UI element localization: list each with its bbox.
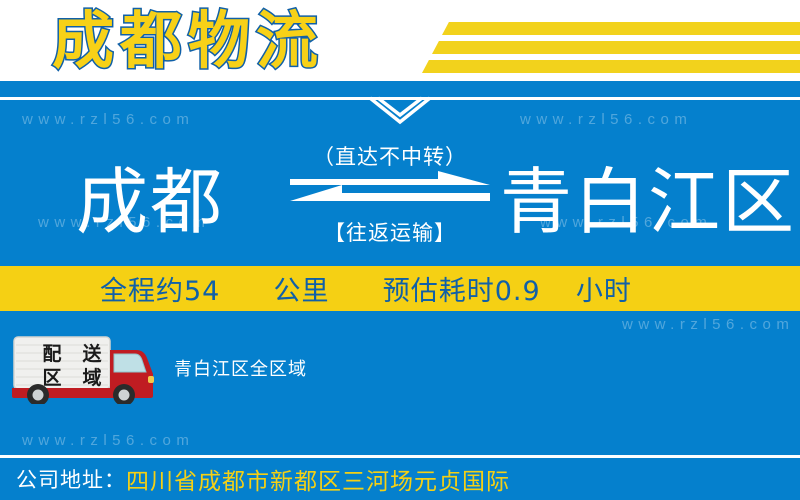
stripe-2: [432, 41, 800, 54]
page-title: 成都物流: [52, 4, 324, 78]
truck-char-4: 域: [82, 367, 101, 389]
route-note-direct: （直达不中转）: [280, 144, 500, 170]
route-row: 成都 （直达不中转） 【往返运输】 青白江区: [0, 150, 800, 260]
delivery-truck-icon: 配 送 区 域: [8, 332, 156, 404]
address-value: 四川省成都市新都区三河场元贞国际: [126, 462, 510, 496]
distance-unit: 公里: [274, 276, 330, 307]
truck-char-3: 区: [42, 367, 61, 389]
truck-label: 配 送 区 域: [32, 342, 112, 390]
address-bar: 公司地址： 四川省成都市新都区三河场元贞国际: [0, 458, 800, 500]
route-note-roundtrip: 【往返运输】: [280, 220, 500, 246]
delivery-area-text: 青白江区全区域: [174, 355, 307, 381]
truck-char-1: 配: [42, 343, 61, 365]
stripe-3: [422, 60, 800, 73]
duration-unit: 小时: [576, 276, 632, 307]
header-strip: 成都物流: [0, 0, 800, 81]
truck-char-2: 送: [82, 343, 101, 365]
bidirectional-arrow-icon: [280, 170, 500, 216]
duration-value: 预估耗时0.9: [383, 276, 541, 307]
route-middle: （直达不中转） 【往返运输】: [280, 144, 500, 264]
delivery-row: 配 送 区 域 青白江区全区域: [0, 330, 800, 406]
stripe-1: [442, 22, 800, 35]
distance-value: 全程约54: [100, 276, 220, 307]
logistics-banner: 成都物流 www.rzl56.com www.rzl56.com www.rzl…: [0, 0, 800, 500]
destination-city: 青白江区: [500, 150, 796, 254]
chevron-down-icon: [364, 96, 436, 132]
decorative-stripes: [380, 0, 800, 81]
address-label: 公司地址：: [0, 464, 126, 494]
origin-city: 成都: [76, 150, 224, 254]
distance-band-text: 全程约54 公里 预估耗时0.9 小时: [0, 269, 632, 308]
distance-band: 全程约54 公里 预估耗时0.9 小时: [0, 266, 800, 311]
